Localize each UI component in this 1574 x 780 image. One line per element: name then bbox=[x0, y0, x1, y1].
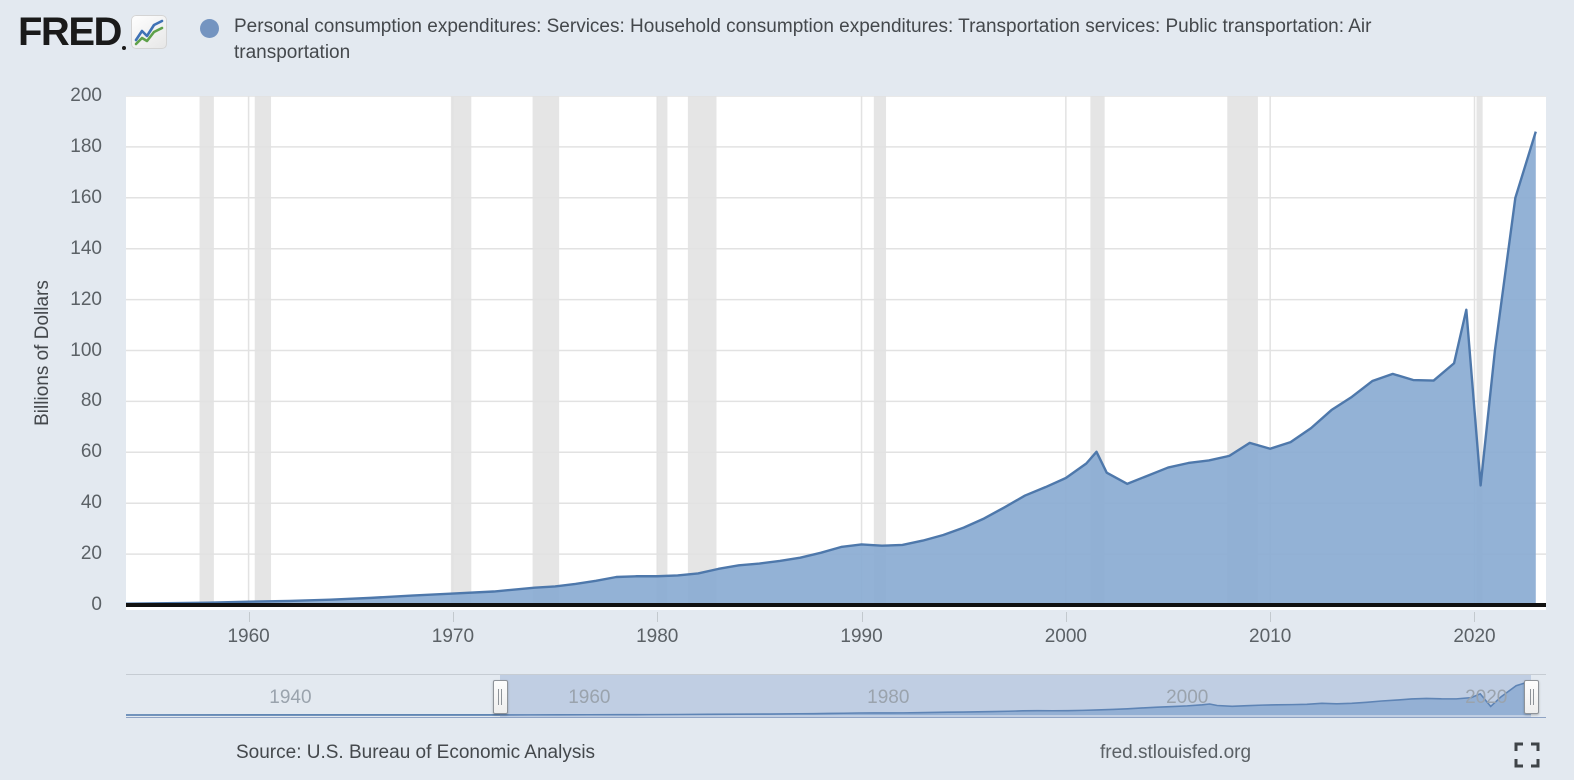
fullscreen-expand-icon[interactable] bbox=[1514, 742, 1540, 768]
y-tick-label: 80 bbox=[81, 390, 102, 412]
y-tick-label: 140 bbox=[70, 238, 102, 260]
x-tick-mark bbox=[249, 612, 250, 622]
x-tick-label: 1970 bbox=[432, 626, 474, 648]
x-tick-label: 1990 bbox=[840, 626, 882, 648]
legend-series-label: Personal consumption expenditures: Servi… bbox=[234, 14, 1490, 66]
chart-plot-area bbox=[126, 96, 1546, 610]
y-axis-ticks: 020406080100120140160180200 bbox=[0, 96, 120, 610]
slider-year-label: 2000 bbox=[1166, 687, 1208, 709]
slider-selected-range[interactable] bbox=[500, 675, 1531, 717]
fred-wordmark: FRED bbox=[18, 12, 126, 52]
y-tick-label: 200 bbox=[70, 85, 102, 107]
x-tick-label: 2020 bbox=[1453, 626, 1495, 648]
fred-registered-dot bbox=[122, 46, 126, 50]
y-tick-label: 0 bbox=[91, 594, 102, 616]
x-tick-mark bbox=[657, 612, 658, 622]
x-tick-label: 1980 bbox=[636, 626, 678, 648]
x-tick-mark bbox=[1066, 612, 1067, 622]
chart-svg bbox=[126, 96, 1546, 610]
y-tick-label: 120 bbox=[70, 289, 102, 311]
legend-series-marker-icon bbox=[200, 19, 219, 38]
slider-year-label: 1960 bbox=[568, 687, 610, 709]
y-tick-label: 40 bbox=[81, 492, 102, 514]
y-tick-label: 160 bbox=[70, 187, 102, 209]
fred-logo[interactable]: FRED bbox=[18, 12, 167, 52]
y-tick-label: 100 bbox=[70, 340, 102, 362]
x-tick-mark bbox=[862, 612, 863, 622]
source-label: Source: U.S. Bureau of Economic Analysis bbox=[236, 742, 595, 764]
slider-year-label: 2020 bbox=[1465, 687, 1507, 709]
chart-footer: Source: U.S. Bureau of Economic Analysis… bbox=[0, 728, 1574, 780]
x-tick-label: 2010 bbox=[1249, 626, 1291, 648]
x-tick-label: 1960 bbox=[227, 626, 269, 648]
y-tick-label: 20 bbox=[81, 543, 102, 565]
y-tick-label: 180 bbox=[70, 136, 102, 158]
slider-right-handle[interactable] bbox=[1524, 680, 1539, 714]
date-range-slider[interactable]: 19401960198020002020 bbox=[126, 674, 1546, 718]
x-tick-mark bbox=[1474, 612, 1475, 622]
site-url-label: fred.stlouisfed.org bbox=[1100, 742, 1251, 764]
x-tick-label: 2000 bbox=[1045, 626, 1087, 648]
slider-year-label: 1980 bbox=[867, 687, 909, 709]
chart-header: FRED Personal consumption expenditures: … bbox=[0, 0, 1574, 80]
x-tick-mark bbox=[1270, 612, 1271, 622]
slider-year-label: 1940 bbox=[269, 687, 311, 709]
fred-chart-glyph-icon bbox=[131, 15, 167, 49]
y-tick-label: 60 bbox=[81, 441, 102, 463]
chart-legend: Personal consumption expenditures: Servi… bbox=[200, 14, 1490, 66]
x-tick-mark bbox=[453, 612, 454, 622]
fred-chart-page: FRED Personal consumption expenditures: … bbox=[0, 0, 1574, 780]
slider-left-handle[interactable] bbox=[493, 680, 508, 714]
x-axis-ticks: 1960197019801990200020102020 bbox=[126, 612, 1546, 652]
series-area-fill bbox=[126, 132, 1536, 605]
fred-wordmark-text: FRED bbox=[18, 10, 121, 54]
